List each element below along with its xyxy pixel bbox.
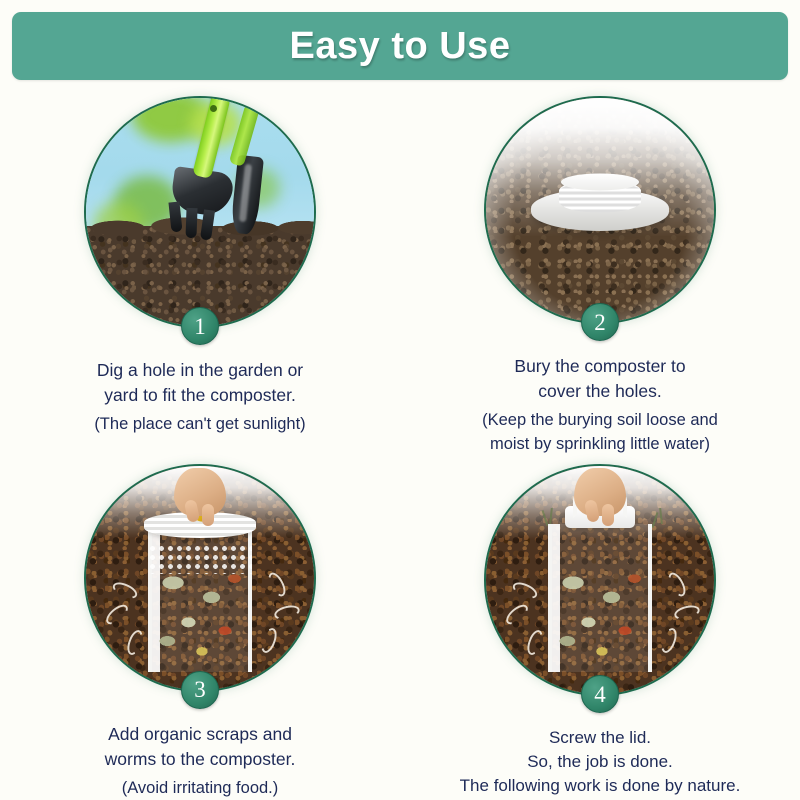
header-banner: Easy to Use <box>12 12 788 80</box>
step-card-2: 2 Bury the composter to cover the holes.… <box>400 88 800 456</box>
caption-line: cover the holes. <box>420 379 780 404</box>
composter-perforations <box>148 544 252 574</box>
finger-icon <box>602 504 614 526</box>
step-2-caption: Bury the composter to cover the holes. (… <box>420 354 780 456</box>
caption-line: yard to fit the composter. <box>20 383 380 408</box>
steps-grid: 1 Dig a hole in the garden or yard to fi… <box>0 88 800 800</box>
step-card-4: 4 Screw the lid. So, the job is done. Th… <box>400 456 800 800</box>
caption-note-line: (The place can't get sunlight) <box>20 413 380 436</box>
caption-line: The following work is done by nature. <box>420 774 780 798</box>
step-1-caption: Dig a hole in the garden or yard to fit … <box>20 358 380 436</box>
step-number-badge-1: 1 <box>181 307 219 345</box>
caption-line: So, the job is done. <box>420 750 780 774</box>
organic-scraps-and-worms <box>552 562 648 666</box>
caption-line: Dig a hole in the garden or <box>20 358 380 383</box>
step-2-image-wrap: 2 <box>484 96 716 324</box>
organic-scraps-and-worms <box>152 562 248 666</box>
garden-trowel-digging-soil-photo <box>84 96 316 328</box>
caption-note-line: (Keep the burying soil loose and <box>420 409 780 432</box>
composter-lid-buried-in-soil-photo <box>484 96 716 324</box>
step-1-image-wrap: 1 <box>84 96 316 328</box>
handle-hole <box>210 105 217 112</box>
caption-note-line: (Avoid irritating food.) <box>20 777 380 800</box>
hand-screwing-composter-lid-photo <box>484 464 716 696</box>
step-card-1: 1 Dig a hole in the garden or yard to fi… <box>0 88 400 456</box>
caption-line: worms to the composter. <box>20 747 380 772</box>
step-number-badge-4: 4 <box>581 675 619 713</box>
composter-opening-icon <box>561 174 639 191</box>
step-3-image-wrap: 3 <box>84 464 316 692</box>
caption-line: Screw the lid. <box>420 726 780 750</box>
step-4-image-wrap: 4 <box>484 464 716 696</box>
cultivator-tine <box>185 208 197 238</box>
hand-adding-scraps-to-composter-photo <box>84 464 316 692</box>
caption-note: (The place can't get sunlight) <box>20 413 380 436</box>
step-number-badge-3: 3 <box>181 671 219 709</box>
step-4-caption: Screw the lid. So, the job is done. The … <box>420 726 780 798</box>
caption-note: (Avoid irritating food.) <box>20 777 380 800</box>
hand-icon <box>174 468 226 516</box>
step-card-3: 3 Add organic scraps and worms to the co… <box>0 456 400 800</box>
finger-icon <box>202 504 214 526</box>
caption-note: (Keep the burying soil loose and moist b… <box>420 409 780 456</box>
page-title: Easy to Use <box>290 25 511 68</box>
hand-icon <box>574 468 626 516</box>
step-3-caption: Add organic scraps and worms to the comp… <box>20 722 380 800</box>
step-number-badge-2: 2 <box>581 303 619 341</box>
caption-line: Add organic scraps and <box>20 722 380 747</box>
caption-note-line: moist by sprinkling little water) <box>420 433 780 456</box>
caption-line: Bury the composter to <box>420 354 780 379</box>
